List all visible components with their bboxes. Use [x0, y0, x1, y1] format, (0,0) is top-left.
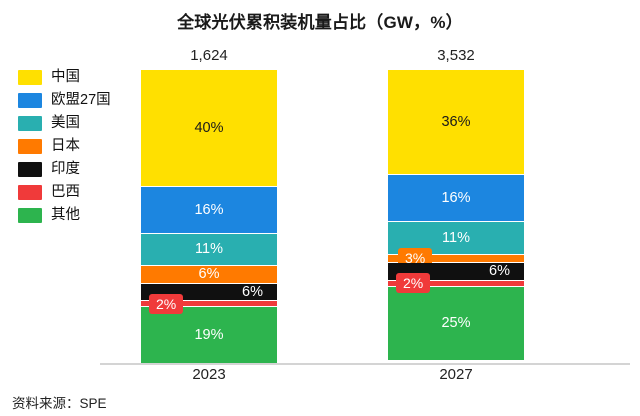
bar-segment[interactable]: 36%: [388, 70, 524, 175]
bar-total-label: 3,532: [388, 47, 524, 64]
bar-segment-label: 6%: [242, 285, 263, 300]
bar-segment[interactable]: 6%: [388, 263, 524, 281]
bar-group-2027: 3,53236%16%11%3%6%2%25%2027: [388, 70, 524, 363]
bar-segment[interactable]: 11%: [388, 222, 524, 254]
x-axis-line: [100, 363, 630, 365]
bar-total-label: 1,624: [141, 47, 277, 64]
stacked-bar: 40%16%11%6%6%2%19%: [141, 70, 277, 363]
bar-segment-label: 11%: [442, 231, 470, 246]
bar-segment[interactable]: 16%: [141, 187, 277, 234]
bar-segment-label: 11%: [195, 242, 223, 257]
stacked-bar: 36%16%11%3%6%2%25%: [388, 70, 524, 363]
bar-segment[interactable]: 6%: [141, 266, 277, 284]
bar-segment[interactable]: 6%: [141, 284, 277, 302]
x-axis-tick-label: 2023: [141, 366, 277, 383]
bar-segment-label: 16%: [194, 203, 223, 218]
x-axis-tick-label: 2027: [388, 366, 524, 383]
bar-segment-label: 25%: [441, 316, 470, 331]
source-note: 资料来源：SPE: [12, 392, 107, 412]
bar-segment-label: 16%: [441, 191, 470, 206]
bar-segment-label: 6%: [489, 264, 510, 279]
plot-area: 1,62440%16%11%6%6%2%19%2023 3,53236%16%1…: [0, 0, 640, 416]
bar-segment[interactable]: 11%: [141, 234, 277, 266]
bar-segment[interactable]: 25%: [388, 287, 524, 360]
bar-segment[interactable]: 16%: [388, 175, 524, 222]
bar-segment-label: 36%: [441, 115, 470, 130]
bar-segment-label: 6%: [199, 267, 220, 282]
bar-segment[interactable]: 3%: [388, 255, 524, 264]
bar-segment-label: 19%: [194, 328, 223, 343]
chart-container: 全球光伏累积装机量占比（GW，%） 中国欧盟27国美国日本印度巴西其他 1,62…: [0, 0, 640, 416]
bar-segment[interactable]: 40%: [141, 70, 277, 187]
bar-segment[interactable]: 19%: [141, 307, 277, 363]
bar-segment-label: 40%: [194, 121, 223, 136]
bar-group-2023: 1,62440%16%11%6%6%2%19%2023: [141, 70, 277, 363]
